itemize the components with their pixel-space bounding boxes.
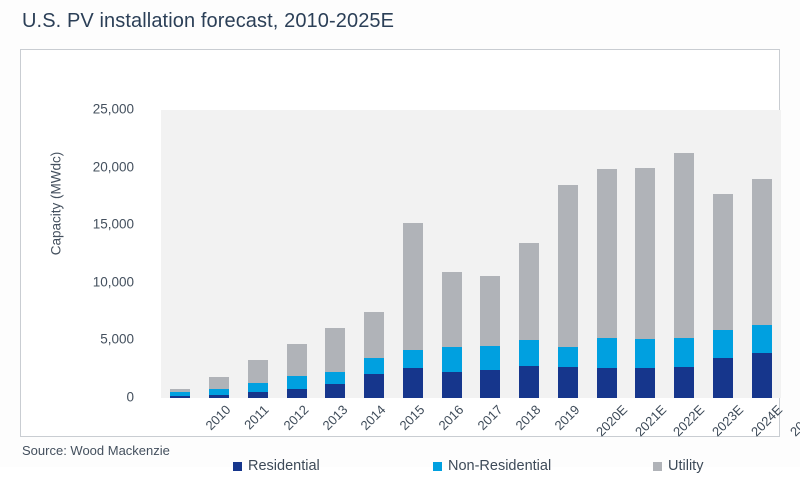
bar-segment-non-residential[interactable]: [519, 340, 539, 365]
bar-segment-utility[interactable]: [403, 223, 423, 350]
legend-item-non-residential[interactable]: Non-Residential: [433, 458, 551, 474]
bar-segment-non-residential[interactable]: [287, 376, 307, 389]
x-axis-tick-label: 2021E: [632, 402, 669, 439]
bar-segment-residential[interactable]: [287, 389, 307, 398]
chart-panel: Capacity (MWdc) 201020112012201320142015…: [20, 49, 780, 437]
bar-segment-non-residential[interactable]: [674, 338, 694, 367]
y-axis-tick-label: 25,000: [64, 102, 134, 117]
bar-segment-utility[interactable]: [325, 328, 345, 372]
bar-column[interactable]: [287, 344, 307, 398]
bar-segment-residential[interactable]: [480, 370, 500, 398]
x-axis-tick-label: 2019: [552, 402, 583, 433]
bar-segment-non-residential[interactable]: [713, 330, 733, 358]
bar-column[interactable]: [403, 223, 423, 398]
bar-column[interactable]: [170, 389, 190, 398]
bar-segment-non-residential[interactable]: [364, 358, 384, 374]
bar-column[interactable]: [209, 377, 229, 398]
bar-segment-residential[interactable]: [403, 368, 423, 398]
bar-segment-residential[interactable]: [597, 368, 617, 398]
x-axis-tick-label: 2011: [241, 402, 271, 432]
y-axis-tick-label: 10,000: [64, 274, 134, 289]
chart-legend: ResidentialNon-ResidentialUtility: [161, 454, 781, 478]
bar-segment-residential[interactable]: [364, 374, 384, 398]
bar-segment-residential[interactable]: [558, 367, 578, 398]
x-axis-tick-label: 2016: [435, 402, 466, 433]
y-axis-tick-label: 15,000: [64, 217, 134, 232]
bar-segment-non-residential[interactable]: [597, 338, 617, 368]
bar-segment-non-residential[interactable]: [325, 372, 345, 385]
bar-segment-utility[interactable]: [442, 272, 462, 347]
legend-item-utility[interactable]: Utility: [653, 458, 703, 474]
bar-segment-residential[interactable]: [674, 367, 694, 398]
bar-segment-residential[interactable]: [713, 358, 733, 398]
bar-segment-residential[interactable]: [752, 353, 772, 398]
legend-swatch-icon: [233, 462, 242, 471]
bar-column[interactable]: [519, 243, 539, 398]
bar-segment-non-residential[interactable]: [480, 346, 500, 370]
y-axis-tick-label: 0: [64, 390, 134, 405]
bar-segment-non-residential[interactable]: [442, 347, 462, 371]
x-axis-tick-label: 2025E: [787, 402, 800, 439]
x-axis-tick-label: 2024E: [748, 402, 785, 439]
legend-item-residential[interactable]: Residential: [233, 458, 320, 474]
legend-swatch-icon: [433, 462, 442, 471]
x-axis-tick-label: 2022E: [670, 402, 707, 439]
x-axis-tick-label: 2013: [319, 402, 350, 433]
bar-column[interactable]: [752, 179, 772, 398]
x-axis-tick-label: 2014: [358, 402, 389, 433]
bar-segment-utility[interactable]: [597, 169, 617, 338]
bar-segment-utility[interactable]: [674, 153, 694, 338]
bar-column[interactable]: [635, 168, 655, 398]
bar-column[interactable]: [558, 185, 578, 398]
bar-segment-utility[interactable]: [558, 185, 578, 347]
bar-segment-utility[interactable]: [480, 276, 500, 346]
x-axis-tick-label: 2017: [474, 402, 505, 433]
bar-segment-utility[interactable]: [635, 168, 655, 340]
bar-segment-utility[interactable]: [364, 312, 384, 358]
bar-segment-residential[interactable]: [635, 368, 655, 398]
bar-segment-non-residential[interactable]: [558, 347, 578, 367]
bar-segment-non-residential[interactable]: [752, 325, 772, 353]
x-axis-tick-label: 2023E: [709, 402, 746, 439]
x-axis-tick-labels: 2010201120122013201420152016201720182019…: [161, 398, 781, 456]
y-axis-tick-label: 5,000: [64, 332, 134, 347]
x-axis-tick-label: 2020E: [593, 402, 630, 439]
legend-item-label: Non-Residential: [448, 458, 551, 474]
bar-segment-residential[interactable]: [325, 384, 345, 398]
bar-column[interactable]: [597, 169, 617, 398]
bar-segment-utility[interactable]: [752, 179, 772, 325]
bar-segment-utility[interactable]: [209, 377, 229, 389]
bar-segment-residential[interactable]: [442, 372, 462, 398]
bar-column[interactable]: [674, 153, 694, 398]
bar-column[interactable]: [248, 360, 268, 398]
bar-column[interactable]: [325, 328, 345, 398]
y-axis-tick-labels: 05,00010,00015,00020,00025,000: [62, 0, 134, 467]
legend-item-label: Residential: [248, 458, 320, 474]
x-axis-tick-label: 2010: [203, 402, 234, 433]
bar-column[interactable]: [364, 312, 384, 398]
source-note: Source: Wood Mackenzie: [22, 443, 170, 458]
legend-swatch-icon: [653, 462, 662, 471]
legend-item-label: Utility: [668, 458, 703, 474]
bar-column[interactable]: [713, 194, 733, 398]
bar-segment-utility[interactable]: [248, 360, 268, 383]
bar-column[interactable]: [480, 276, 500, 398]
bar-segment-utility[interactable]: [713, 194, 733, 330]
y-axis-tick-label: 20,000: [64, 159, 134, 174]
bar-segment-residential[interactable]: [519, 366, 539, 398]
x-axis-tick-label: 2018: [513, 402, 544, 433]
bar-series-container: [161, 110, 781, 398]
bar-column[interactable]: [442, 272, 462, 398]
bar-segment-non-residential[interactable]: [248, 383, 268, 392]
bar-segment-non-residential[interactable]: [635, 339, 655, 368]
bar-segment-utility[interactable]: [287, 344, 307, 376]
bar-segment-utility[interactable]: [519, 243, 539, 340]
bar-segment-non-residential[interactable]: [403, 350, 423, 368]
chart-figure: U.S. PV installation forecast, 2010-2025…: [0, 0, 800, 467]
x-axis-tick-label: 2015: [397, 402, 428, 433]
x-axis-tick-label: 2012: [280, 402, 311, 433]
